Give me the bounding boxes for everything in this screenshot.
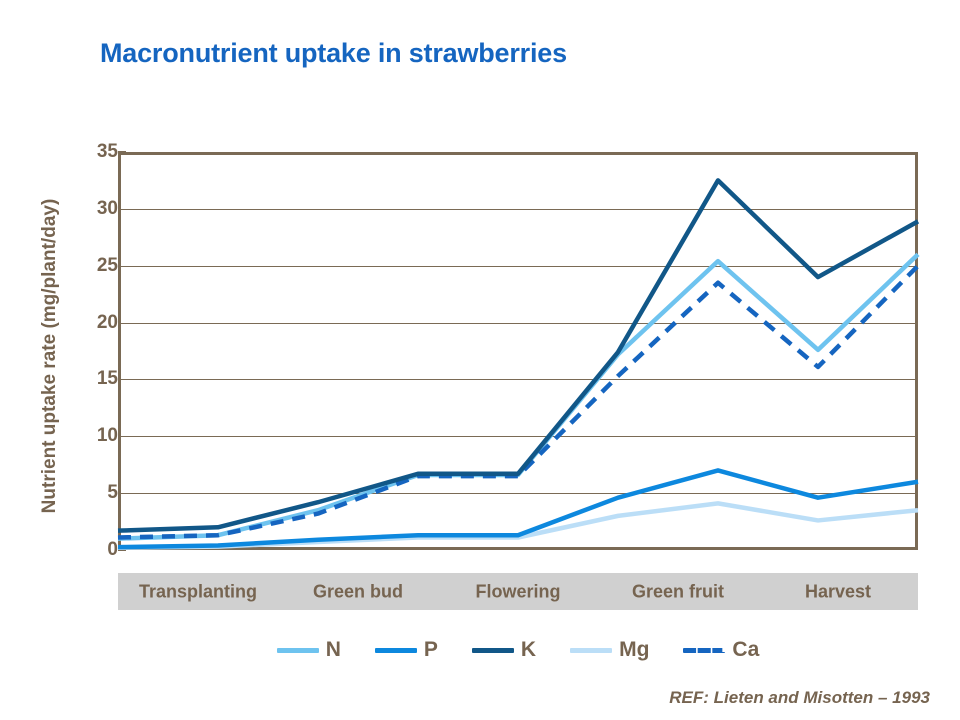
y-tick-label: 0: [70, 539, 118, 561]
y-tick-label: 20: [70, 312, 118, 334]
legend-label: N: [326, 638, 341, 662]
legend-label: Mg: [619, 638, 649, 662]
x-category-label: Green bud: [313, 581, 403, 602]
y-tick-label: 30: [70, 198, 118, 220]
legend-item-k[interactable]: K: [472, 638, 536, 662]
legend-swatch-k-icon: [472, 648, 514, 653]
legend: NPKMgCa: [118, 634, 918, 666]
legend-label: Ca: [732, 638, 759, 662]
y-tick-label: 15: [70, 368, 118, 390]
y-axis-ticks: 05101520253035: [55, 152, 118, 550]
page-title: Macronutrient uptake in strawberries: [100, 38, 567, 69]
reference-note: REF: Lieten and Misotten – 1993: [669, 688, 930, 708]
legend-item-mg[interactable]: Mg: [570, 638, 649, 662]
series-line-k: [118, 180, 918, 530]
legend-item-n[interactable]: N: [277, 638, 341, 662]
series-line-n: [118, 254, 918, 538]
y-tick-label: 10: [70, 425, 118, 447]
y-tick-label: 5: [70, 482, 118, 504]
series-line-mg: [118, 503, 918, 547]
x-category-label: Flowering: [476, 581, 561, 602]
series-line-p: [118, 470, 918, 547]
x-category-label: Harvest: [805, 581, 871, 602]
x-category-label: Transplanting: [139, 581, 257, 602]
legend-swatch-p-icon: [375, 648, 417, 653]
legend-swatch-mg-icon: [570, 648, 612, 653]
legend-swatch-n-icon: [277, 648, 319, 653]
plot-area: [118, 152, 918, 550]
x-category-label: Green fruit: [632, 581, 724, 602]
series-line-ca: [118, 266, 918, 538]
legend-item-p[interactable]: P: [375, 638, 438, 662]
legend-label: K: [521, 638, 536, 662]
legend-label: P: [424, 638, 438, 662]
series-lines: [118, 152, 918, 550]
y-tick-label: 35: [70, 141, 118, 163]
legend-item-ca[interactable]: Ca: [683, 638, 759, 662]
legend-swatch-ca-icon: [683, 648, 725, 653]
y-tick-label: 25: [70, 255, 118, 277]
x-axis-category-band: TransplantingGreen budFloweringGreen fru…: [118, 573, 918, 610]
